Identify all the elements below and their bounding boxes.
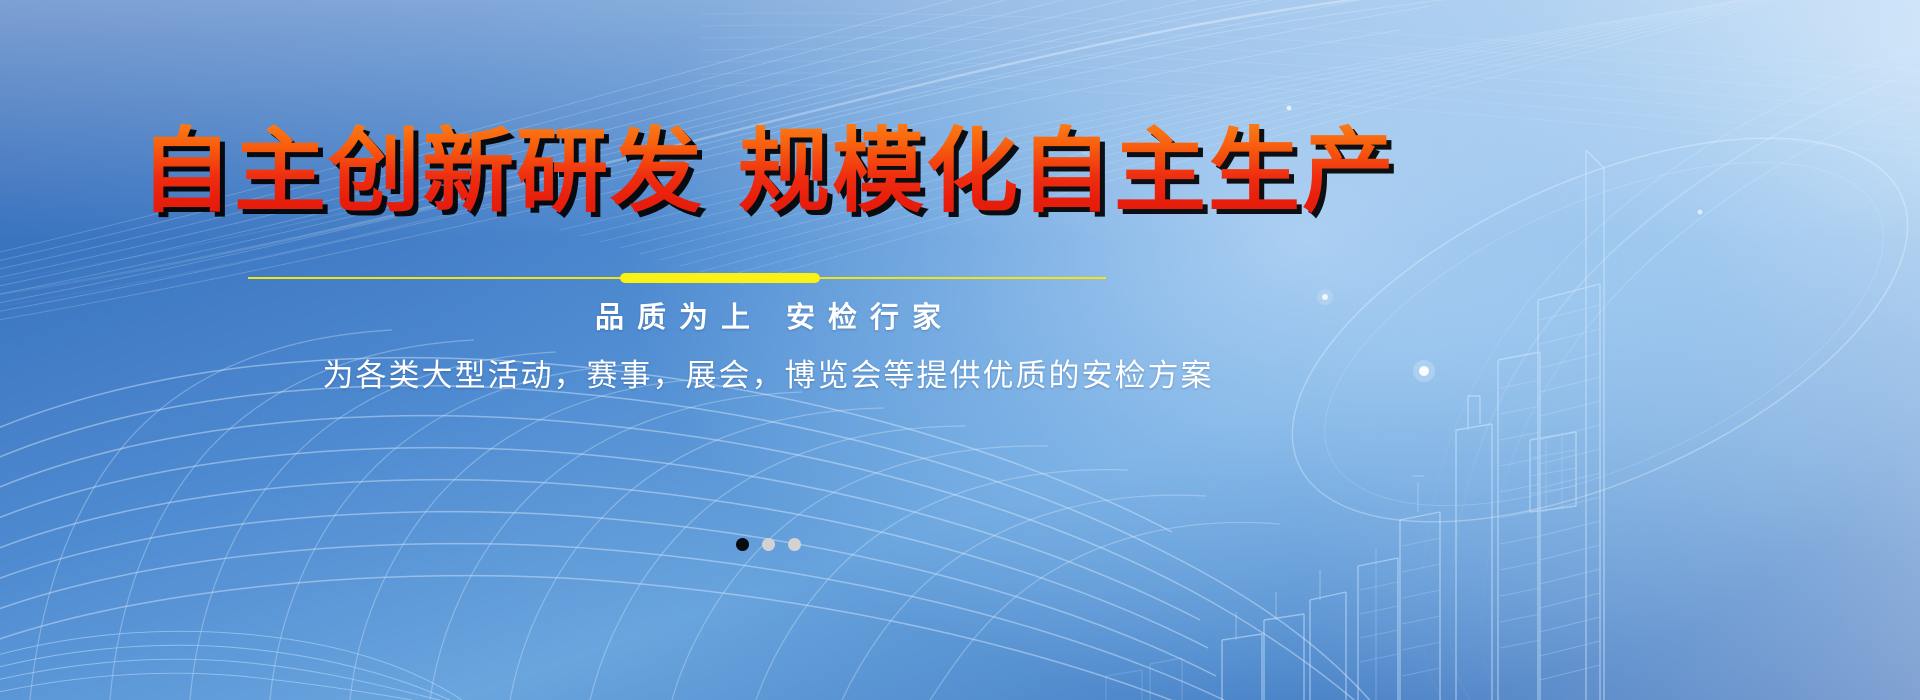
headline-container: 自主创新研发 规模化自主生产 xyxy=(0,62,1536,281)
carousel-dot-2[interactable] xyxy=(762,538,775,551)
carousel-dot-3[interactable] xyxy=(788,538,801,551)
page-title: 自主创新研发 规模化自主生产 xyxy=(140,124,1396,220)
subtitle-secondary: 为各类大型活动，赛事，展会，博览会等提供优质的安检方案 xyxy=(0,357,1536,396)
carousel-dot-1[interactable] xyxy=(736,538,749,551)
hero-banner: 自主创新研发 规模化自主生产 品质为上 安检行家 为各类大型活动，赛事，展会，博… xyxy=(0,0,1920,700)
carousel-pagination[interactable] xyxy=(0,538,1536,551)
subtitle-container: 品质为上 安检行家 为各类大型活动，赛事，展会，博览会等提供优质的安检方案 xyxy=(0,300,1536,396)
subtitle-primary: 品质为上 安检行家 xyxy=(0,300,1536,335)
